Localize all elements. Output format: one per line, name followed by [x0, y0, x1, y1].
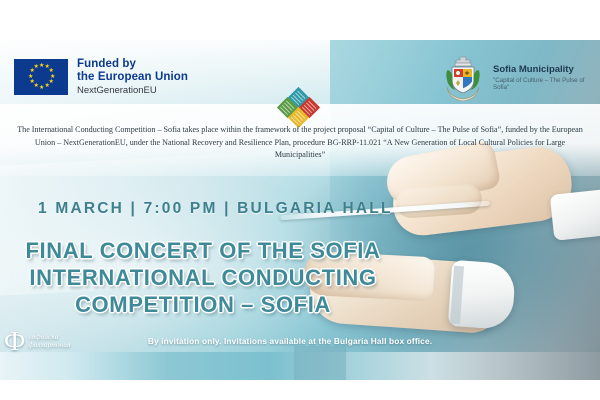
poster-headline: FINAL CONCERT OF THE SOFIA INTERNATIONAL… [8, 238, 398, 318]
eu-star-icon: ★ [29, 69, 33, 73]
eu-nextgeneration-label: NextGenerationEU [77, 86, 188, 97]
municipality-motto: "Capital of Culture – The Pulse of Sofia… [493, 77, 600, 92]
capital-of-culture-diamond-icon [281, 90, 319, 124]
sofia-coat-of-arms-icon [440, 54, 486, 102]
right-shirt-cuff [550, 189, 600, 241]
sofia-municipality-logo: Sofia Municipality "Capital of Culture –… [440, 54, 600, 102]
sofia-philharmonic-logo: Ф софийска филхармония [4, 330, 71, 353]
eu-funding-text: Funded by the European Union NextGenerat… [77, 58, 188, 96]
eu-funding-logo: ★★★★★★★★★★★★ Funded by the European Unio… [14, 58, 188, 96]
invitation-note: By invitation only. Invitations availabl… [95, 336, 485, 346]
eu-star-icon: ★ [39, 86, 43, 90]
eu-funded-by-line1: Funded by [77, 58, 188, 71]
event-poster: ★★★★★★★★★★★★ Funded by the European Unio… [0, 0, 600, 380]
eu-funded-by-line2: the European Union [77, 71, 188, 84]
philharmonic-monogram-icon: Ф [4, 330, 25, 353]
headline-line-1: FINAL CONCERT OF THE SOFIA [8, 238, 398, 265]
eu-flag-icon: ★★★★★★★★★★★★ [14, 59, 68, 95]
event-time: 7:00 PM [144, 200, 218, 217]
municipality-name: Sofia Municipality [493, 64, 600, 75]
eu-star-icon: ★ [29, 80, 33, 84]
eu-star-icon: ★ [39, 64, 43, 68]
philharmonic-word-2: филхармония [28, 341, 70, 350]
headline-line-2: INTERNATIONAL CONDUCTING [8, 265, 398, 292]
event-venue: BULGARIA HALL [237, 200, 392, 217]
headline-line-3: COMPETITION – SOFIA [8, 292, 398, 319]
sofia-municipality-text: Sofia Municipality "Capital of Culture –… [493, 64, 600, 92]
eu-star-icon: ★ [28, 75, 32, 79]
eu-star-icon: ★ [49, 69, 53, 73]
dateline-separator-2: | [224, 200, 231, 217]
event-dateline: 1 MARCH | 7:00 PM | BULGARIA HALL [38, 200, 393, 218]
project-disclaimer: The International Conducting Competition… [12, 124, 588, 162]
philharmonic-wordmark: софийска филхармония [28, 333, 70, 350]
event-date: 1 MARCH [38, 200, 124, 217]
eu-star-icon: ★ [45, 84, 49, 88]
background-square-accent [294, 346, 346, 380]
eu-star-icon: ★ [34, 65, 38, 69]
dateline-separator-1: | [131, 200, 138, 217]
poster-top-white-band [0, 0, 600, 40]
